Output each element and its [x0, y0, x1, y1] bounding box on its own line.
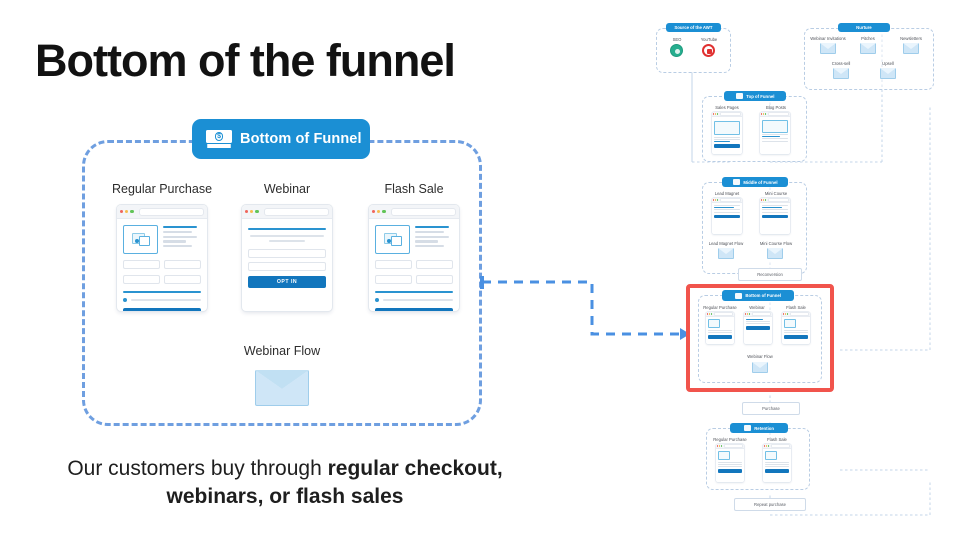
funnel-icon — [736, 93, 743, 99]
browser-content: BUY NOW — [369, 219, 459, 311]
funnel-overview-map: Source of the AWT SEO YouTube Nurture We… — [630, 10, 960, 535]
browser-mockup: BUY NOW — [369, 205, 459, 311]
map-group-badge: Retention — [730, 423, 788, 433]
seo-icon — [670, 44, 683, 57]
map-item-label: Lead Magnet Flow — [706, 241, 746, 246]
envelope-icon — [752, 362, 768, 373]
mini-browser — [782, 312, 810, 344]
map-item-label: Upsell — [875, 61, 901, 66]
browser-content: OPT IN — [242, 219, 332, 294]
map-pill-purchase[interactable]: Purchase — [742, 402, 800, 415]
browser-content: BUY NOW — [117, 219, 207, 311]
youtube-icon — [702, 44, 715, 57]
badge-label: Bottom of Funnel — [240, 131, 362, 147]
map-item-label: Newsletters — [892, 36, 930, 41]
mini-browser — [712, 198, 742, 234]
money-bill-icon — [206, 130, 232, 148]
map-item-label: Lead Magnet — [710, 191, 744, 196]
map-item-label: Regular Purchase — [712, 437, 748, 442]
map-group-badge: Top of Funnel — [724, 91, 786, 101]
map-group-source[interactable] — [656, 28, 731, 73]
envelope-icon — [718, 248, 734, 259]
card-title: Webinar — [227, 182, 347, 196]
map-item-label: Flash Sale — [782, 305, 810, 310]
map-item-label: Flash Sale — [763, 437, 791, 442]
maximize-dot-icon — [130, 210, 133, 213]
browser-titlebar — [369, 205, 459, 219]
envelope-icon — [820, 43, 836, 54]
radio-icon — [375, 298, 379, 302]
card-title: Regular Purchase — [102, 182, 222, 196]
retention-icon — [744, 425, 751, 431]
map-item-label: Sales Pages — [710, 105, 744, 110]
money-bill-icon — [735, 293, 742, 299]
card-flash-sale[interactable]: Flash Sale — [354, 182, 474, 311]
map-pill-reconversion[interactable]: Reconversion — [738, 268, 802, 281]
page-title: Bottom of the funnel — [35, 38, 455, 83]
caption-plain: Our customers buy through — [67, 457, 327, 480]
envelope-icon — [880, 68, 896, 79]
minimize-dot-icon — [125, 210, 128, 213]
maximize-dot-icon — [382, 210, 385, 213]
map-item-label: Webinar Invitations — [806, 36, 850, 41]
mini-browser — [744, 312, 772, 344]
envelope-icon — [833, 68, 849, 79]
envelope-icon — [860, 43, 876, 54]
slide-root: Bottom of the funnel Bottom of Funnel Re… — [0, 0, 960, 540]
envelope-icon — [255, 370, 309, 406]
buy-now-button[interactable]: BUY NOW — [375, 308, 453, 311]
mini-browser — [716, 444, 744, 482]
map-pill-repeat-purchase[interactable]: Repeat purchase — [734, 498, 806, 511]
map-item-label: Regular Purchase — [702, 305, 738, 310]
map-group-badge: Middle of Funnel — [722, 177, 788, 187]
cta-label: OPT IN — [277, 279, 297, 285]
card-regular-purchase[interactable]: Regular Purchase — [102, 182, 222, 311]
map-group-badge: Source of the AWT — [666, 23, 721, 32]
mini-browser — [712, 112, 742, 154]
bottom-of-funnel-badge: Bottom of Funnel — [192, 119, 370, 159]
close-dot-icon — [372, 210, 375, 213]
caption: Our customers buy through regular checko… — [60, 455, 510, 510]
mini-browser — [760, 112, 790, 154]
map-item-label: YouTube — [694, 37, 724, 42]
envelope-icon — [767, 248, 783, 259]
mini-browser — [706, 312, 734, 344]
product-image-icon — [375, 225, 410, 254]
map-item-label: Blog Posts — [761, 105, 791, 110]
browser-titlebar — [117, 205, 207, 219]
webinar-flow-title: Webinar Flow — [82, 344, 482, 358]
card-webinar[interactable]: Webinar OPT IN — [227, 182, 347, 311]
envelope-icon — [903, 43, 919, 54]
browser-titlebar — [242, 205, 332, 219]
url-bar — [264, 208, 329, 216]
browser-mockup: OPT IN — [242, 205, 332, 311]
webinar-flow-block: Webinar Flow — [82, 344, 482, 406]
mini-browser — [763, 444, 791, 482]
map-group-badge: Nurture — [838, 23, 890, 32]
map-item-label: Webinar — [743, 305, 771, 310]
map-group-badge: Bottom of Funnel — [722, 290, 794, 301]
url-bar — [391, 208, 456, 216]
opt-in-button[interactable]: OPT IN — [248, 276, 326, 288]
browser-mockup: BUY NOW — [117, 205, 207, 311]
minimize-dot-icon — [250, 210, 253, 213]
map-item-label: SEO — [664, 37, 690, 42]
radio-icon — [123, 298, 127, 302]
mini-browser — [760, 198, 790, 234]
close-dot-icon — [120, 210, 123, 213]
maximize-dot-icon — [255, 210, 258, 213]
minimize-dot-icon — [377, 210, 380, 213]
cart-icon — [733, 179, 740, 185]
map-item-label: Pitches — [853, 36, 883, 41]
card-title: Flash Sale — [354, 182, 474, 196]
map-item-label: Webinar Flow — [740, 354, 780, 359]
url-bar — [139, 208, 204, 216]
close-dot-icon — [245, 210, 248, 213]
buy-now-button[interactable]: BUY NOW — [123, 308, 201, 311]
product-image-icon — [123, 225, 158, 254]
map-item-label: Cross-sell — [826, 61, 856, 66]
map-item-label: Mini Course — [760, 191, 792, 196]
map-item-label: Mini Course Flow — [756, 241, 796, 246]
